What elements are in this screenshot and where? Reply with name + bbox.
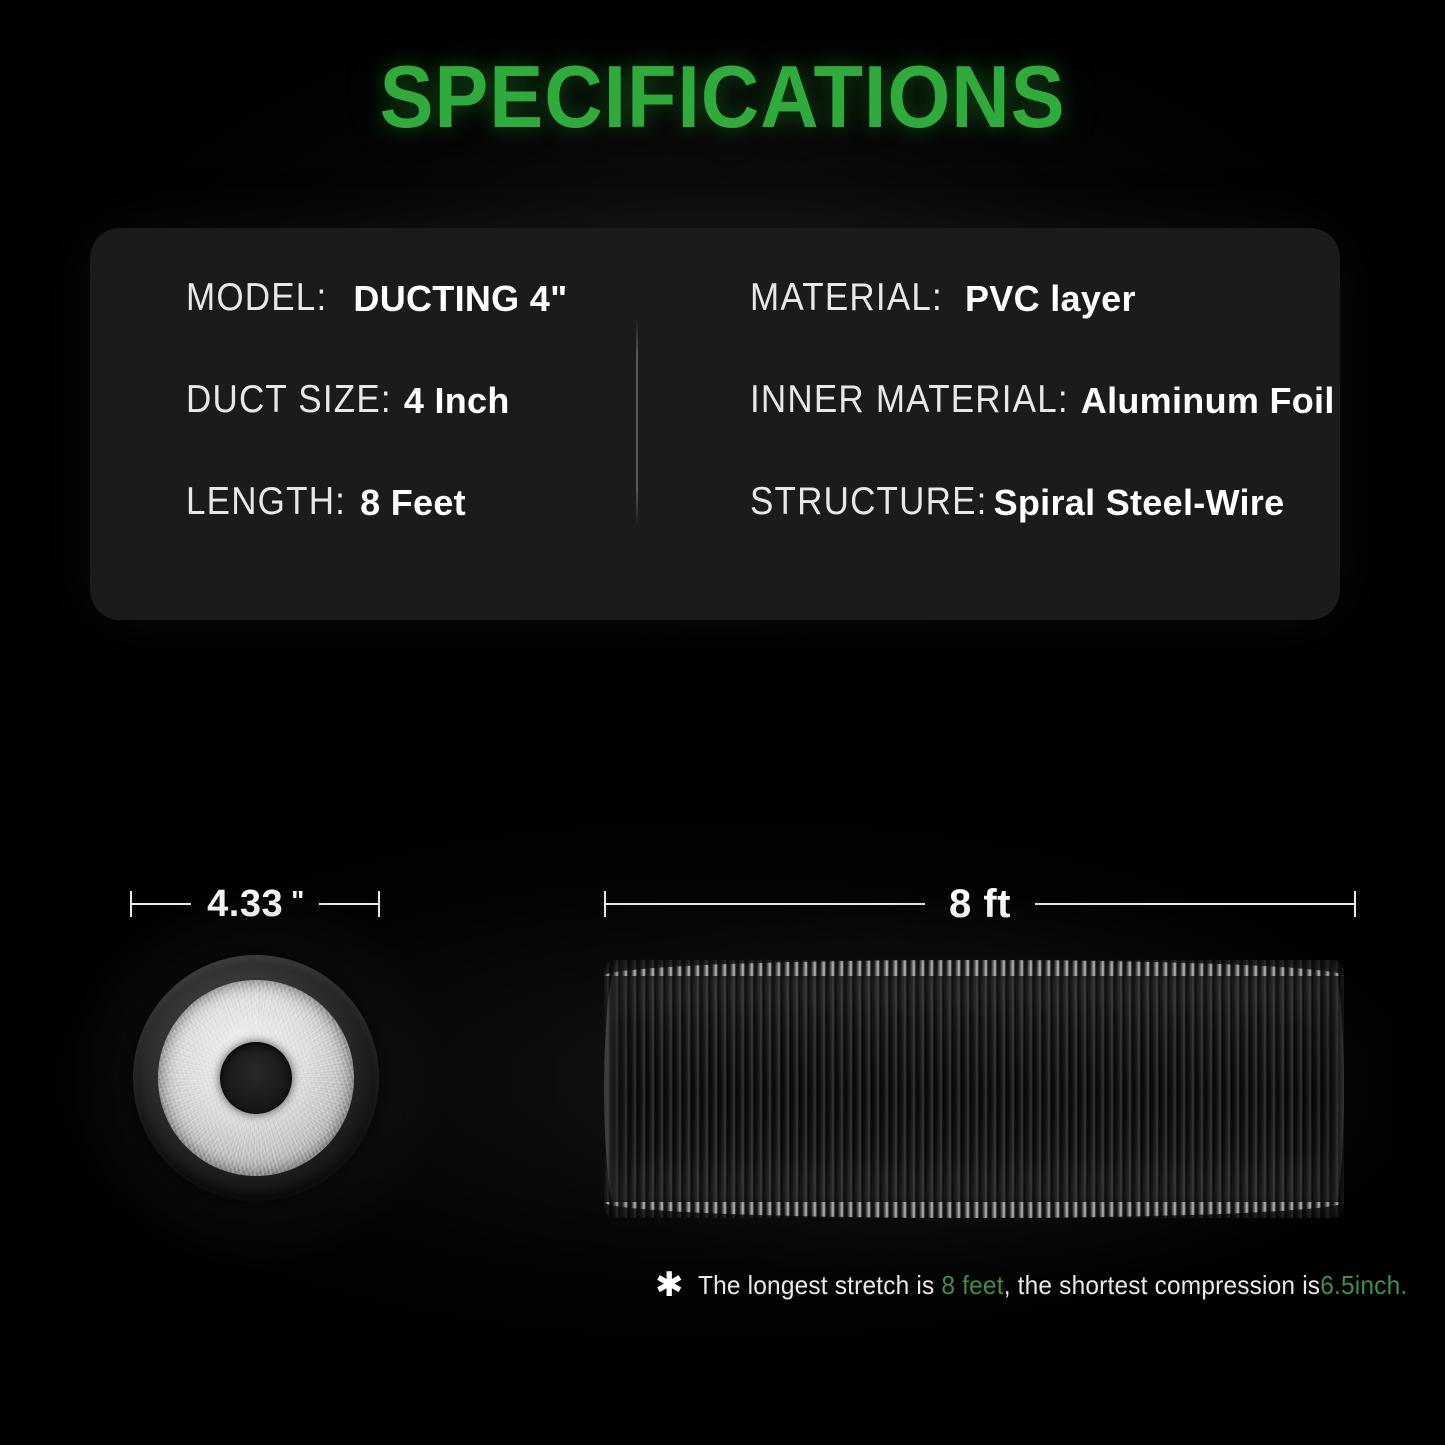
spec-row-duct-size: DUCT SIZE: 4 Inch: [186, 380, 567, 482]
spec-row-material: MATERIAL: PVC layer: [750, 278, 1335, 380]
spec-value-inner-material: Aluminum Foil: [1081, 380, 1335, 422]
spec-value-structure: Spiral Steel-Wire: [994, 482, 1285, 524]
ducting-tube-left-end: [604, 960, 630, 1218]
spec-column-left: MODEL: DUCTING 4" DUCT SIZE: 4 Inch LENG…: [186, 278, 567, 584]
footnote-highlight-stretch: 8 feet: [941, 1270, 1003, 1300]
cross-section-center-hole: [220, 1042, 292, 1114]
footnote-text: The longest stretch is 8 feet, the short…: [698, 1270, 1407, 1301]
spec-value-length: 8 Feet: [360, 482, 466, 524]
spec-label-inner-material: INNER MATERIAL:: [750, 377, 1069, 422]
ducting-tube-bottom-ribs: [604, 1202, 1344, 1218]
spec-row-model: MODEL: DUCTING 4": [186, 278, 567, 380]
ducting-tube-top-ribs: [604, 960, 1344, 976]
spec-column-right: MATERIAL: PVC layer INNER MATERIAL: Alum…: [750, 278, 1335, 584]
column-divider: [636, 318, 638, 526]
ducting-tube-right-end: [1322, 960, 1344, 1218]
ducting-tube-body: [604, 960, 1344, 1218]
spec-row-length: LENGTH: 8 Feet: [186, 482, 567, 584]
spec-row-structure: STRUCTURE: Spiral Steel-Wire: [750, 482, 1335, 584]
spec-value-duct-size: 4 Inch: [404, 380, 510, 422]
footnote-part2: , the shortest compression is: [1003, 1270, 1320, 1300]
spec-value-material: PVC layer: [965, 278, 1136, 320]
spec-value-model: DUCTING 4": [353, 278, 567, 320]
dimension-cap-right-icon: [378, 891, 380, 917]
product-specification-image: SPECIFICATIONS MODEL: DUCTING 4" DUCT SI…: [0, 0, 1445, 1445]
footnote-part1: The longest stretch is: [698, 1270, 941, 1300]
spec-label-model: MODEL:: [186, 275, 327, 320]
duct-cross-section-image: [133, 955, 379, 1201]
footnote-highlight-compression: 6.5inch.: [1320, 1270, 1407, 1300]
spec-label-length: LENGTH:: [186, 479, 346, 524]
spec-label-material: MATERIAL:: [750, 275, 943, 320]
page-title: SPECIFICATIONS: [58, 46, 1387, 148]
spec-row-inner-material: INNER MATERIAL: Aluminum Foil: [750, 380, 1335, 482]
footnote: ✱ The longest stretch is 8 feet, the sho…: [655, 1268, 1445, 1302]
spec-label-structure: STRUCTURE:: [750, 479, 988, 524]
spec-label-duct-size: DUCT SIZE:: [186, 377, 392, 422]
asterisk-icon: ✱: [655, 1268, 684, 1302]
cross-section-outer-ring: [133, 955, 379, 1201]
ducting-tube-image: [604, 960, 1344, 1218]
